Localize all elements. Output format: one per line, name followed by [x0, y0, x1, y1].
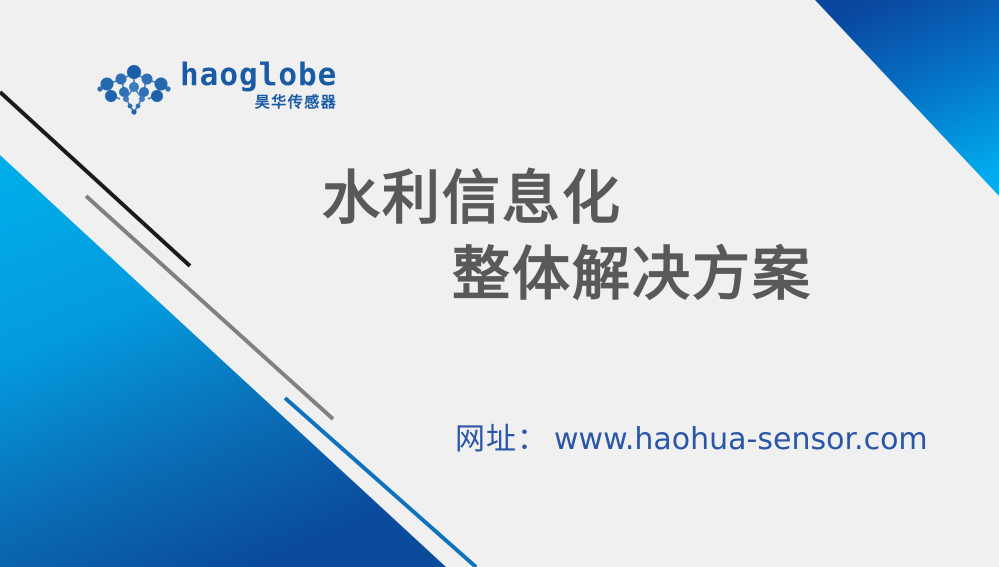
company-logo: haoglobe 昊华传感器	[96, 58, 326, 124]
page-title: 水利信息化 整体解决方案	[300, 160, 900, 312]
logo-text-group: haoglobe 昊华传感器	[180, 58, 337, 112]
website-label: 网址：	[455, 420, 548, 460]
title-line-1: 水利信息化	[300, 160, 900, 236]
logo-wordmark: haoglobe	[180, 58, 337, 92]
logo-subtitle: 昊华传感器	[255, 93, 338, 112]
website-line: 网址： www.haohua-sensor.com	[455, 420, 928, 460]
website-url[interactable]: www.haohua-sensor.com	[554, 420, 928, 460]
molecule-network-dots-icon	[96, 62, 172, 118]
title-line-2: 整体解决方案	[300, 236, 900, 312]
presentation-slide: haoglobe 昊华传感器 水利信息化 整体解决方案 网址： www.haoh…	[0, 0, 999, 567]
